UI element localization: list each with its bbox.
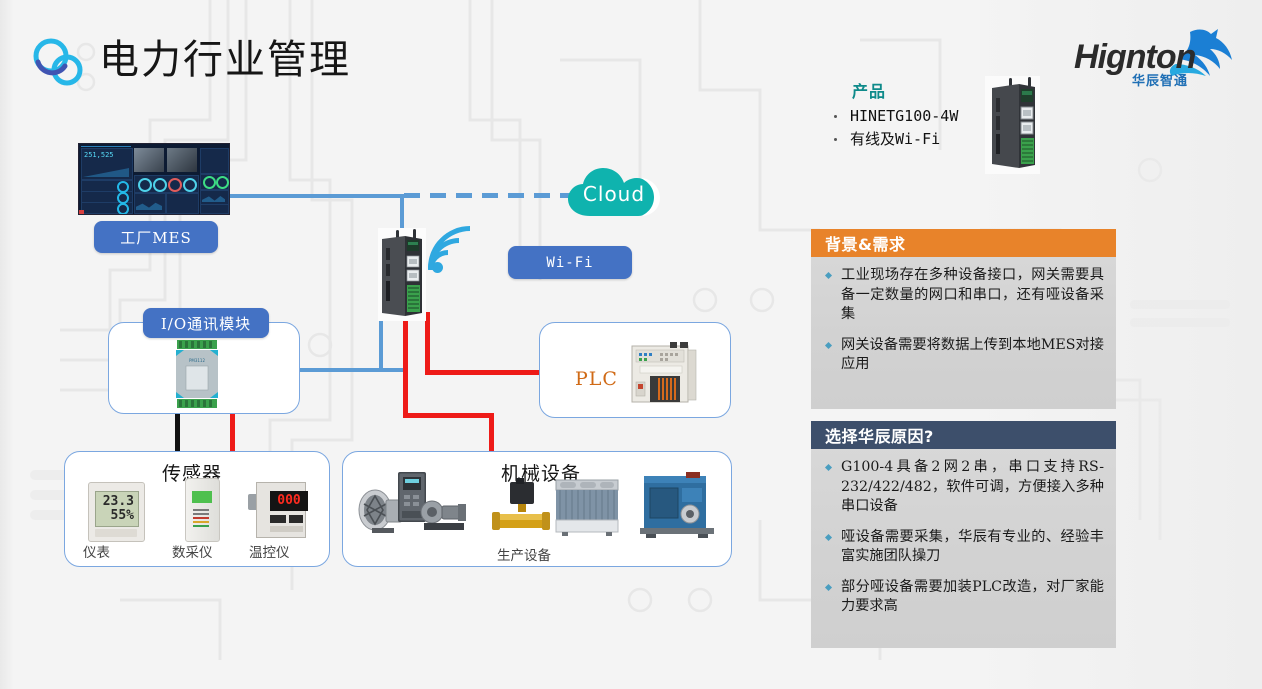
bullet-bg-1: 网关设备需要将数据上传到本地MES对接应用 [825, 336, 1104, 375]
machine-boiler-image [638, 472, 716, 538]
temp-controller-display: 000 [270, 491, 308, 511]
machine-solenoid-valve-image [492, 478, 550, 536]
line-gateway-to-plc-vertical [425, 312, 430, 374]
panel-header-why: 选择华辰原因? [811, 421, 1116, 449]
bullet-why-0: G100-4具备2网2串，串口支持RS-232/422/482，软件可调，方便接… [825, 458, 1104, 517]
sensor-meter-device: 23.3 55% [88, 482, 145, 542]
line-mes-to-gateway-horizontal [228, 194, 404, 198]
wifi-label-pill[interactable]: Wi-Fi [508, 246, 632, 279]
panel-body-background: 工业现场存在多种设备接口，网关需要具备一定数量的网口和串口，还有哑设备采集 网关… [811, 257, 1116, 398]
page-title: 电力行业管理 [99, 36, 351, 84]
machine-pump-image [420, 498, 468, 532]
cloud-node[interactable]: Cloud [568, 168, 668, 220]
line-gateway-to-cloud-dashed [404, 193, 574, 198]
io-module-label-pill[interactable]: I/O通讯模块 [143, 308, 269, 338]
app-logo-icon [27, 36, 89, 90]
product-device-image [985, 76, 1040, 174]
mes-label-pill[interactable]: 工厂MES [94, 221, 218, 253]
wifi-label: Wi-Fi [546, 255, 593, 271]
temp-controller-body: 000 [256, 482, 306, 538]
cloud-label: Cloud [568, 168, 668, 220]
bullet-bg-0: 工业现场存在多种设备接口，网关需要具备一定数量的网口和串口，还有哑设备采集 [825, 266, 1104, 325]
sensor-label-0: 仪表 [83, 541, 110, 561]
mes-dashboard-screen: 251,525 [78, 143, 230, 215]
brand-logo: Hignton 华辰智通 [1072, 20, 1242, 94]
brand-chinese-name: 华辰智通 [1132, 70, 1188, 89]
io-module-label: I/O通讯模块 [161, 313, 251, 334]
panel-body-why: G100-4具备2网2串，串口支持RS-232/422/482，软件可调，方便接… [811, 449, 1116, 640]
datalogger-lcd [192, 491, 212, 503]
sensor-datalogger-device [185, 478, 220, 542]
machine-chiller-image [552, 478, 622, 536]
meter-humidity: 55% [111, 508, 134, 523]
line-io-to-sensors-red [230, 413, 235, 451]
bullet-why-2: 部分哑设备需要加装PLC改造，对厂家能力要求高 [825, 578, 1104, 617]
mes-label: 工厂MES [120, 227, 192, 248]
sensor-temp-controller-device: 000 [248, 482, 306, 538]
panel-background-requirements: 背景&需求 工业现场存在多种设备接口，网关需要具备一定数量的网口和串口，还有哑设… [811, 229, 1116, 409]
line-gateway-to-machines-horizontal [403, 413, 493, 418]
temp-controller-reading: 000 [270, 493, 308, 508]
meter-temperature: 23.3 [103, 494, 134, 509]
line-io-to-gateway-horizontal [300, 368, 404, 372]
svg-text:PM3112: PM3112 [189, 358, 205, 363]
line-gateway-to-plc-horizontal [425, 370, 540, 375]
machines-caption: 生产设备 [497, 544, 551, 564]
plc-label: PLC [575, 368, 618, 390]
network-topology-diagram: 251,525 工厂MES Cloud [0, 0, 800, 689]
sensor-label-2: 温控仪 [249, 541, 290, 561]
bullet-why-1: 哑设备需要采集，华辰有专业的、经验丰富实施团队操刀 [825, 528, 1104, 567]
line-machines-drop [489, 413, 494, 451]
meter-lcd: 23.3 55% [95, 491, 139, 527]
line-io-to-sensors-black [175, 413, 180, 451]
plc-device-image [630, 338, 700, 404]
line-gateway-to-machines-vertical [403, 312, 408, 418]
panel-why-hignton: 选择华辰原因? G100-4具备2网2串，串口支持RS-232/422/482，… [811, 421, 1116, 648]
sensor-label-1: 数采仪 [172, 541, 213, 561]
io-module-device: PM3112 [172, 338, 222, 410]
panel-header-background: 背景&需求 [811, 229, 1116, 257]
gateway-device [378, 228, 426, 321]
